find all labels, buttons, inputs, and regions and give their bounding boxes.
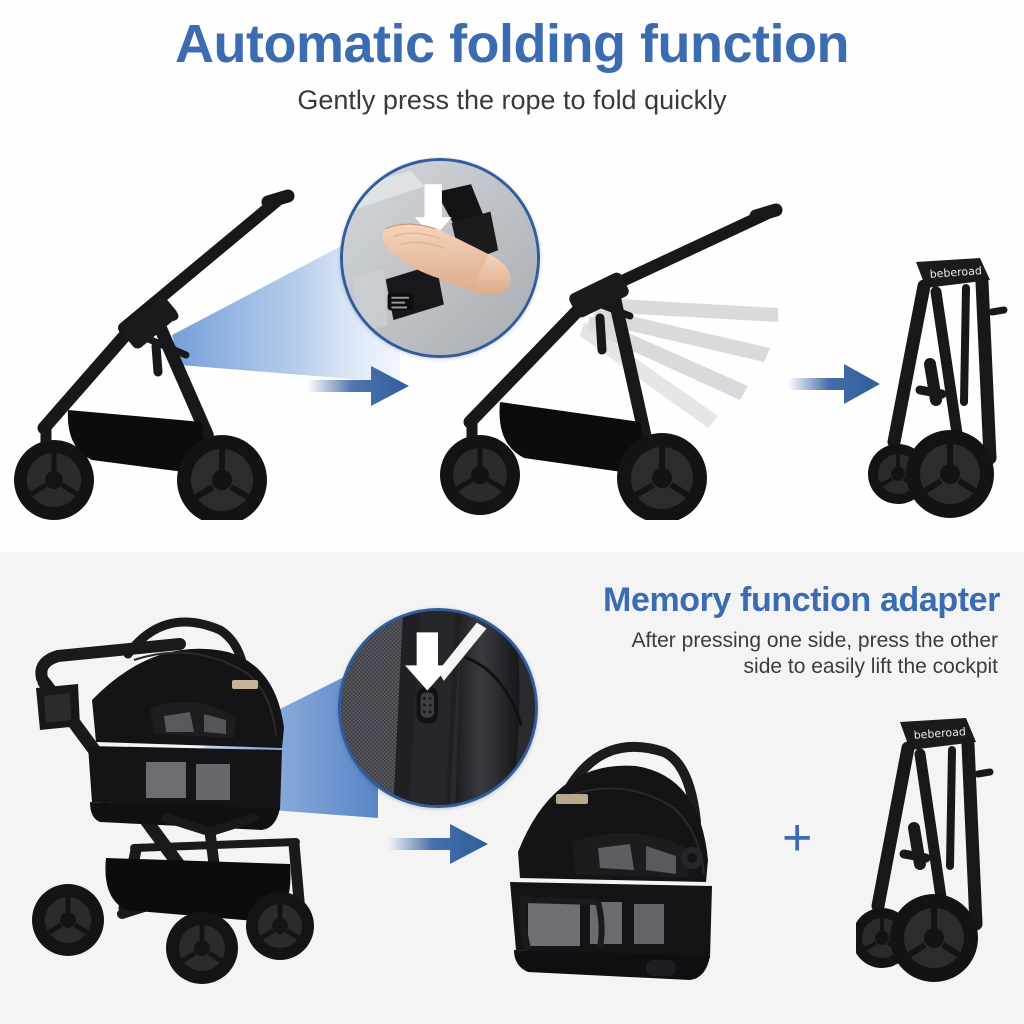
section-automatic-folding: Automatic folding function Gently press … xyxy=(0,0,1024,552)
section-one-subhead: Gently press the rope to fold quickly xyxy=(0,84,1024,116)
section-one-headline: Automatic folding function xyxy=(0,14,1024,74)
stroller-folded-art: beberoad xyxy=(868,252,1018,520)
section-two-subhead-line-1: After pressing one side, press the other xyxy=(518,628,998,654)
plus-symbol: + xyxy=(782,812,812,864)
arrow-step-1-to-2 xyxy=(305,360,415,412)
product-infographic: Automatic folding function Gently press … xyxy=(0,0,1024,1024)
section-two-subhead-line-2: side to easily lift the cockpit xyxy=(518,654,998,680)
stroller-open-art xyxy=(6,160,306,520)
stroller-with-bassinet-art xyxy=(14,596,344,1006)
stroller-folding-art xyxy=(418,190,798,520)
section-two-headline: Memory function adapter xyxy=(480,580,1000,620)
bassinet-detached-art xyxy=(494,716,744,988)
arrow-bassinet-detach xyxy=(386,818,496,870)
chassis-folded-art: beberoad xyxy=(856,712,1006,984)
section-two-subhead: After pressing one side, press the other… xyxy=(518,628,998,680)
